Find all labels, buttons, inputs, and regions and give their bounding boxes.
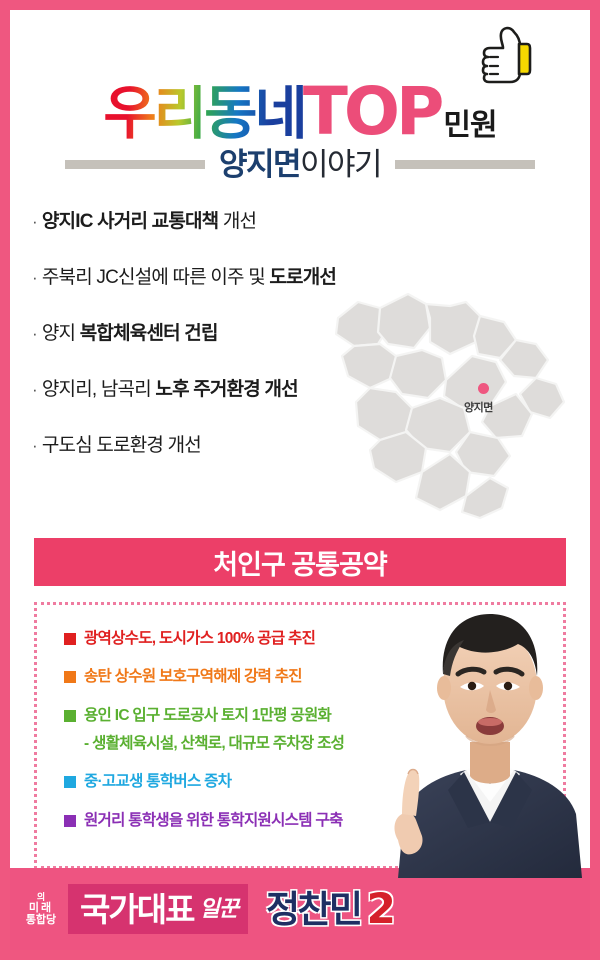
pledge-text: 광역상수도, 도시가스 100% 공급 추진 (84, 629, 315, 648)
pledge-text: 원거리 통학생을 위한 통학지원시스템 구축 (84, 811, 343, 830)
issue-bold: 복합체육센터 건립 (80, 323, 218, 344)
pledge-subtext: - 생활체육시설, 산책로, 대규모 주차장 조성 (84, 731, 563, 753)
banner-title: 처인구 공통공약 (213, 543, 386, 582)
pledge-text: 용인 IC 입구 도로공사 토지 1만평 공원화 (84, 706, 331, 725)
pledge-item: 광역상수도, 도시가스 100% 공급 추진 (64, 629, 563, 648)
issue-item: ·양지 복합체육센터 건립 (32, 318, 590, 345)
issue-bold: 노후 주거환경 개선 (155, 379, 297, 400)
subtitle-rule-left (65, 160, 205, 169)
subtitle-text: 양지면이야기 (219, 149, 381, 180)
issue-regular: 양지리, 남곡리 (42, 379, 156, 400)
subtitle-region: 양지면 (219, 147, 300, 182)
issue-list: ·양지IC 사거리 교통대책 개선 ·주북리 JC신설에 따른 이주 및 도로개… (10, 206, 590, 457)
campaign-poster: 우리동네 TOP 민원 양지면이야기 (0, 0, 600, 960)
issue-bold: 도로개선 (269, 267, 336, 288)
slogan-main: 국가대표 (80, 893, 193, 926)
logo-row: 우리동네 TOP 민원 (10, 28, 590, 145)
issue-regular: 개선 (218, 211, 256, 232)
pledge-square-icon (64, 776, 76, 788)
pledge-text: 송탄 상수원 보호구역해제 강력 추진 (84, 667, 302, 686)
party-logo-line-2: 미래 (18, 902, 64, 914)
issue-bullet: · (32, 268, 37, 287)
issue-item: ·주북리 JC신설에 따른 이주 및 도로개선 (32, 262, 590, 289)
pledge-item: 송탄 상수원 보호구역해제 강력 추진 (64, 667, 563, 686)
subtitle-row: 양지면이야기 (10, 149, 590, 180)
issue-item: ·구도심 도로환경 개선 (32, 430, 590, 457)
common-pledge-banner: 처인구 공통공약 (34, 538, 566, 586)
issue-bold: 양지IC 사거리 교통대책 (42, 211, 218, 232)
pledge-subtext-label: - 생활체육시설, 산책로, 대규모 주차장 조성 (84, 735, 344, 752)
bottom-bar: 의 미래 통합당 국가대표 일꾼 정찬민 2 (10, 868, 590, 950)
pledge-square-icon (64, 671, 76, 683)
poster-header: 우리동네 TOP 민원 (10, 10, 590, 145)
issue-bullet: · (32, 324, 37, 343)
pledge-text: 중·고교생 통학버스 증차 (84, 772, 231, 791)
slogan-sub: 일꾼 (199, 898, 237, 920)
candidate-number: 2 (367, 888, 396, 930)
pledge-item: 원거리 통학생을 위한 통학지원시스템 구축 (64, 811, 563, 830)
issue-regular: 양지 (42, 323, 80, 344)
slogan-block: 국가대표 일꾼 (68, 884, 248, 934)
pledge-item: 용인 IC 입구 도로공사 토지 1만평 공원화 (64, 706, 563, 725)
pledge-item: 중·고교생 통학버스 증차 (64, 772, 563, 791)
issue-bullet: · (32, 212, 37, 231)
issue-item: ·양지리, 남곡리 노후 주거환경 개선 (32, 374, 590, 401)
subtitle-rule-right (395, 160, 535, 169)
pledge-square-icon (64, 633, 76, 645)
pledge-list: 광역상수도, 도시가스 100% 공급 추진 송탄 상수원 보호구역해제 강력 … (34, 602, 566, 869)
party-logo: 의 미래 통합당 (18, 892, 64, 927)
party-logo-line-1: 의 (18, 892, 64, 902)
issue-regular: 주북리 JC신설에 따른 이주 및 (42, 267, 270, 288)
logo-top-text: TOP (303, 79, 441, 145)
thumbs-up-icon (474, 24, 532, 86)
pledge-square-icon (64, 710, 76, 722)
issue-bullet: · (32, 436, 37, 455)
party-logo-line-3: 통합당 (18, 914, 64, 926)
candidate-name: 정찬민 (266, 891, 361, 928)
issue-regular: 구도심 도로환경 개선 (42, 435, 201, 456)
issue-bullet: · (32, 380, 37, 399)
pledge-square-icon (64, 815, 76, 827)
issue-item: ·양지IC 사거리 교통대책 개선 (32, 206, 590, 233)
logo-suffix-text: 민원 (443, 111, 496, 145)
subtitle-suffix: 이야기 (300, 147, 381, 182)
logo-rainbow-text: 우리동네 (103, 85, 304, 145)
